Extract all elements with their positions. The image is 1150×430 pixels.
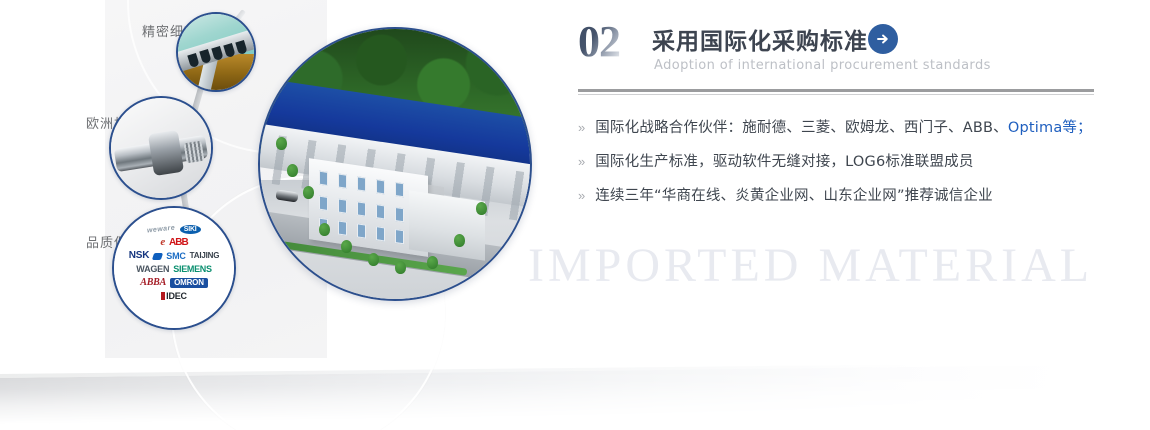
logo-idec: IDEC (161, 292, 187, 301)
logo-siki: SIKI (180, 225, 201, 234)
logo-taijing: TAIJING (190, 252, 220, 260)
gear-macro-photo (176, 12, 256, 92)
chevron-right-icon: » (578, 186, 585, 206)
ball-screw-photo (109, 96, 213, 200)
logo-nsk: NSK (129, 251, 150, 261)
brand-logos-collage: weware SIKI e ABB NSK SMC TAIJING WAGEN … (112, 206, 236, 330)
tree (427, 256, 438, 269)
header-divider (578, 89, 1094, 95)
tree (276, 137, 287, 150)
logo-weware: weware (147, 225, 176, 235)
logo-idec-text: IDEC (166, 291, 187, 301)
factory-aerial-photo (258, 27, 532, 301)
logo-e-brand: e (160, 237, 165, 248)
list-item-text: 国际化生产标准，驱动软件无缝对接，LOG6标准联盟成员 (595, 152, 973, 172)
brand-logos-inner: weware SIKI e ABB NSK SMC TAIJING WAGEN … (114, 208, 234, 328)
smc-mark-icon (152, 253, 163, 260)
list-item-text-main: 国际化战略合作伙伴：施耐德、三菱、欧姆龙、西门子、ABB、 (595, 120, 1008, 136)
content-column: 02 采用国际化采购标准 Adoption of international p… (575, 18, 1095, 88)
list-item: » 连续三年“华商在线、炎黄企业网、山东企业网”推荐诚信企业 (578, 186, 1094, 206)
list-item-text: 连续三年“华商在线、炎黄企业网、山东企业网”推荐诚信企业 (595, 186, 993, 206)
watermark-text: IMPORTED MATERIAL (528, 238, 1093, 293)
logo-siemens: SIEMENS (173, 265, 211, 274)
tree (368, 253, 379, 266)
logo-abb: ABB (169, 238, 188, 248)
arrow-right-icon[interactable] (868, 24, 898, 54)
section-number: 02 (578, 16, 620, 67)
logo-smc: SMC (166, 252, 185, 261)
bullet-list: » 国际化战略合作伙伴：施耐德、三菱、欧姆龙、西门子、ABB、Optima等； … (578, 118, 1094, 220)
page-subtitle: Adoption of international procurement st… (654, 58, 991, 73)
list-item: » 国际化生产标准，驱动软件无缝对接，LOG6标准联盟成员 (578, 152, 1094, 172)
list-item: » 国际化战略合作伙伴：施耐德、三菱、欧姆龙、西门子、ABB、Optima等； (578, 118, 1094, 138)
tree (476, 202, 487, 215)
tree (287, 164, 298, 177)
tree (395, 261, 406, 274)
section-header: 02 采用国际化采购标准 Adoption of international p… (575, 18, 1095, 88)
office-wing (409, 191, 485, 262)
promo-banner: 精密细节 欧洲标准 品质保证 weware SIKI e ABB (0, 0, 1150, 430)
logo-abba: ABBA (140, 278, 166, 288)
screw-thread (184, 141, 205, 164)
tree (303, 186, 314, 199)
logo-wagen: WAGEN (136, 265, 169, 274)
tree (341, 240, 352, 253)
logo-omron: OMRON (170, 278, 208, 288)
list-item-text: 国际化战略合作伙伴：施耐德、三菱、欧姆龙、西门子、ABB、Optima等； (595, 118, 1092, 138)
screw-nut (148, 130, 184, 176)
chevron-right-icon: » (578, 152, 585, 172)
chevron-right-icon: » (578, 118, 585, 138)
page-title: 采用国际化采购标准 (652, 22, 868, 56)
list-item-text-highlight: Optima等； (1008, 120, 1092, 136)
list-item-text-main: 连续三年“华商在线、炎黄企业网、山东企业网”推荐诚信企业 (595, 188, 993, 204)
list-item-text-main: 国际化生产标准，驱动软件无缝对接，LOG6标准联盟成员 (595, 154, 973, 170)
